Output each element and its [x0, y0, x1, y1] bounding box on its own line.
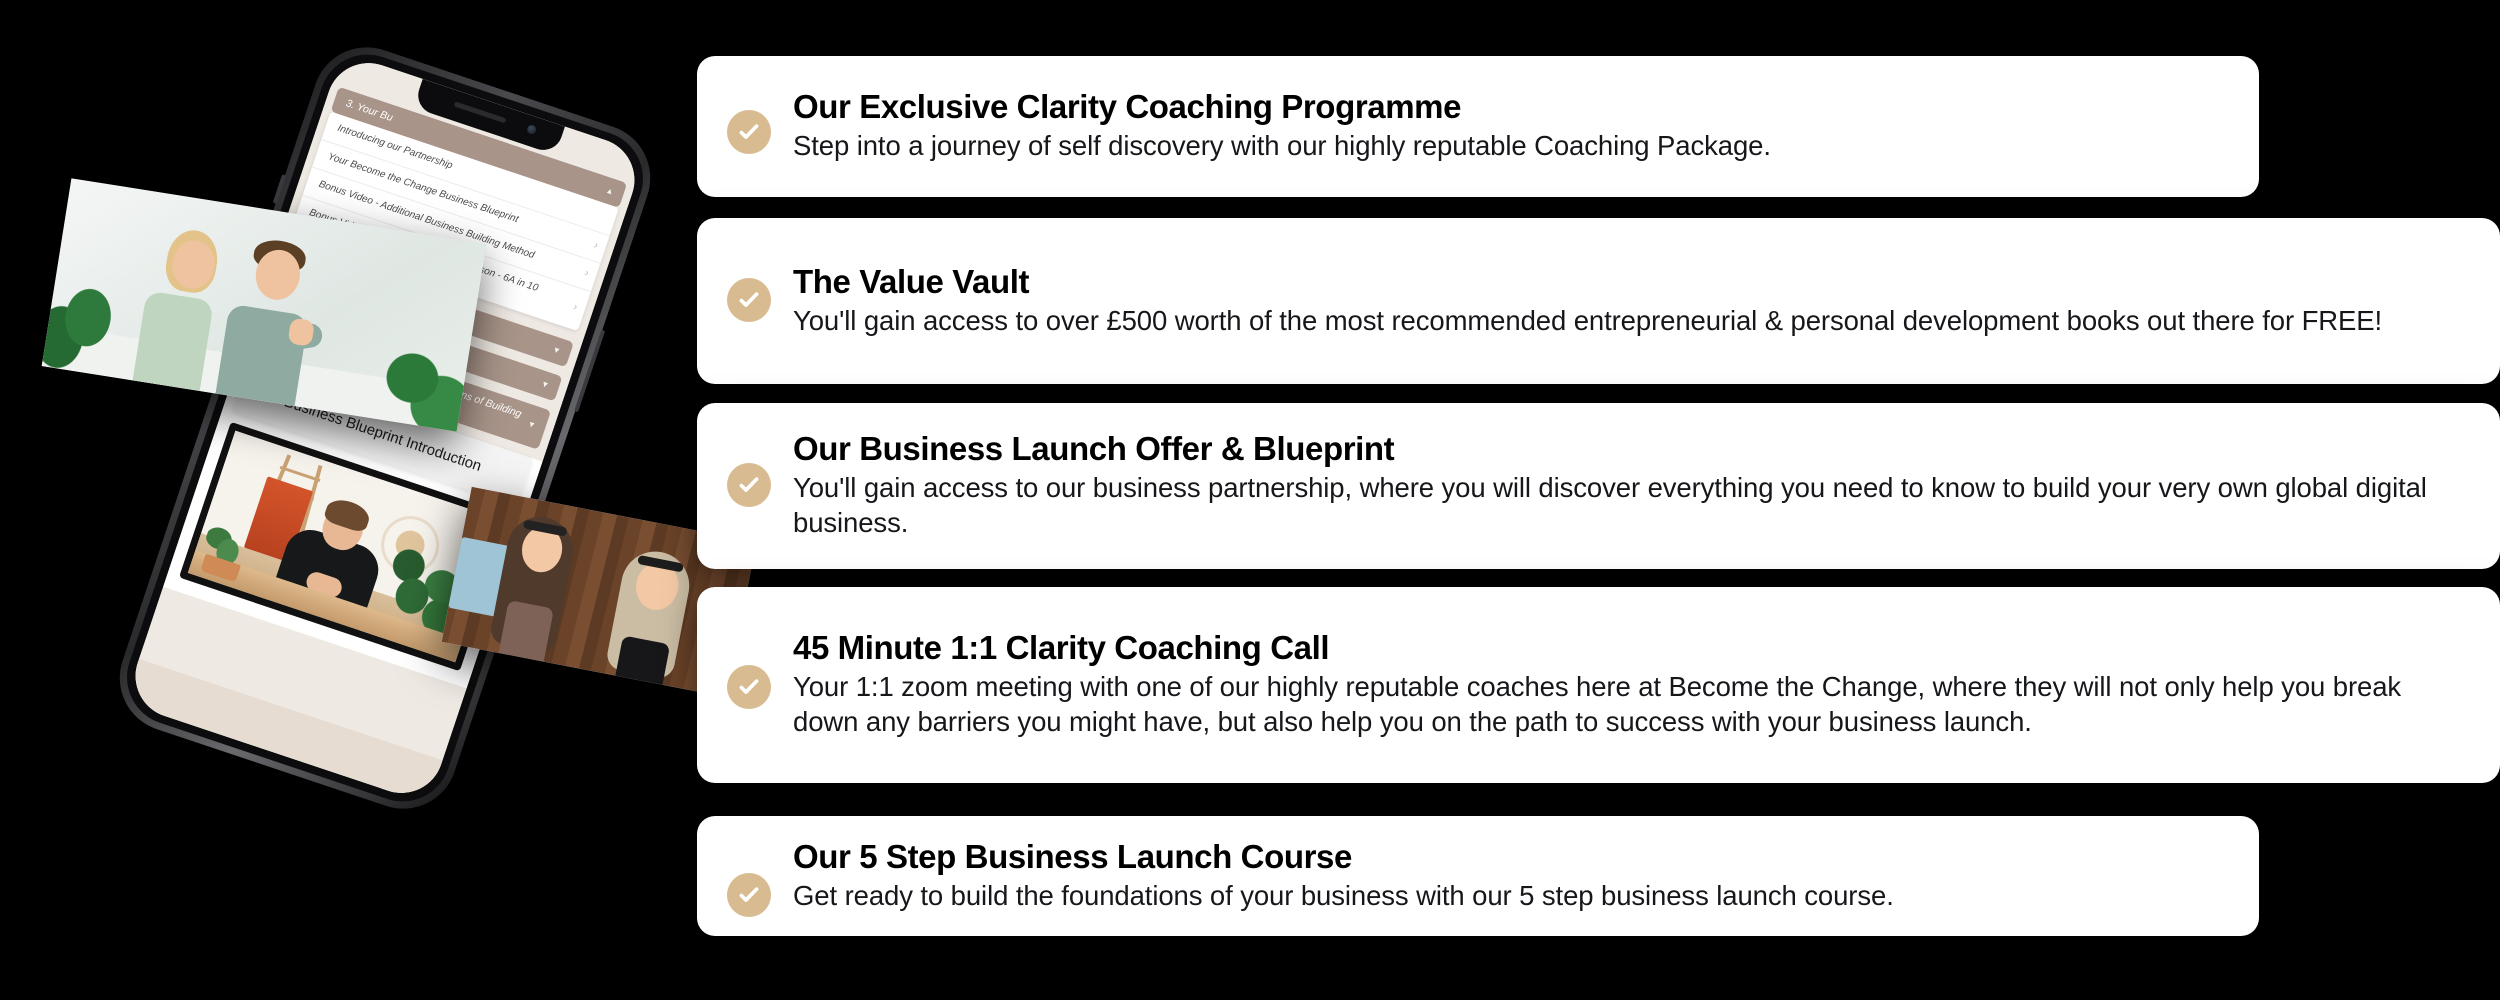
- benefit-card: Our 5 Step Business Launch Course Get re…: [697, 816, 2259, 936]
- benefit-title: The Value Vault: [793, 264, 2464, 301]
- front-camera-icon: [526, 124, 537, 135]
- benefit-card: Our Exclusive Clarity Coaching Programme…: [697, 56, 2259, 197]
- caret-down-icon: ▼: [526, 419, 537, 431]
- phone-mockup: 3. Your Bu ▲ Introducing our Partnership…: [40, 60, 680, 900]
- chevron-right-icon: ›: [571, 301, 579, 315]
- check-circle-icon: [727, 463, 771, 507]
- check-circle-icon: [727, 278, 771, 322]
- benefit-description: Your 1:1 zoom meeting with one of our hi…: [793, 669, 2464, 741]
- benefit-description: Get ready to build the foundations of yo…: [793, 878, 2223, 914]
- caret-down-icon: ▼: [551, 344, 561, 355]
- benefit-card: 45 Minute 1:1 Clarity Coaching Call Your…: [697, 587, 2500, 783]
- benefit-card: Our Business Launch Offer & Blueprint Yo…: [697, 403, 2500, 569]
- benefit-title: Our 5 Step Business Launch Course: [793, 839, 2223, 876]
- phone-device: 3. Your Bu ▲ Introducing our Partnership…: [105, 33, 664, 823]
- benefit-card: The Value Vault You'll gain access to ov…: [697, 218, 2500, 384]
- chevron-right-icon: ›: [582, 267, 590, 281]
- check-circle-icon: [727, 665, 771, 709]
- earpiece-speaker: [454, 101, 507, 123]
- benefit-title: Our Business Launch Offer & Blueprint: [793, 431, 2464, 468]
- caret-up-icon: ▲: [605, 186, 615, 197]
- check-circle-icon: [727, 110, 771, 154]
- benefit-title: Our Exclusive Clarity Coaching Programme: [793, 89, 2223, 126]
- chevron-right-icon: ›: [592, 239, 600, 253]
- promo-banner: 3. Your Bu ▲ Introducing our Partnership…: [0, 0, 2500, 1000]
- benefit-description: You'll gain access to over £500 worth of…: [793, 303, 2464, 339]
- benefit-description: You'll gain access to our business partn…: [793, 470, 2464, 542]
- benefit-description: Step into a journey of self discovery wi…: [793, 128, 2223, 164]
- caret-down-icon: ▼: [540, 379, 550, 390]
- check-circle-icon: [727, 873, 771, 917]
- benefit-title: 45 Minute 1:1 Clarity Coaching Call: [793, 630, 2464, 667]
